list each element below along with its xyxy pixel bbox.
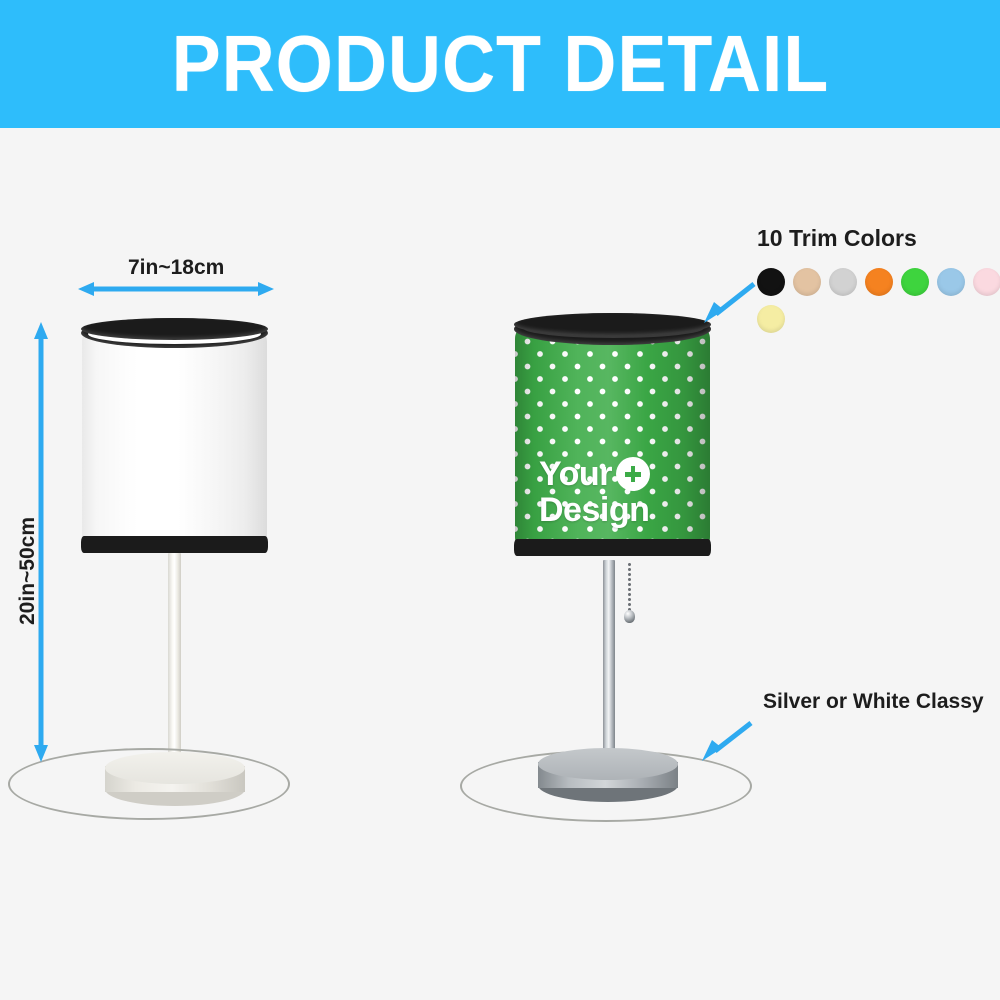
shade-width-arrow — [78, 280, 274, 298]
green-lamp-pull-chain — [628, 562, 631, 613]
header-banner: PRODUCT DETAIL — [0, 0, 1000, 128]
white-shade-bottom-trim — [81, 536, 268, 553]
trim-swatch-green[interactable] — [901, 268, 929, 296]
green-shade-top-trim-lip — [514, 313, 711, 336]
green-lamp-base — [538, 748, 678, 804]
trim-swatch-pink[interactable] — [973, 268, 1000, 296]
lamp-height-arrow — [32, 322, 50, 762]
green-shade-bottom-trim — [514, 539, 711, 556]
trim-colors-panel: 10 Trim Colors — [745, 225, 995, 345]
green-lamp-shade: Your Design — [515, 313, 710, 563]
trim-swatch-tan[interactable] — [793, 268, 821, 296]
page-title: PRODUCT DETAIL — [171, 24, 829, 104]
green-lamp-pole — [603, 560, 615, 760]
white-lamp-pole — [168, 553, 181, 768]
silver-base-top — [538, 748, 678, 780]
trim-swatch-row-1 — [757, 268, 1000, 296]
trim-colors-title: 10 Trim Colors — [757, 225, 917, 252]
trim-swatch-light-gray[interactable] — [829, 268, 857, 296]
white-shade-top-trim-lip — [81, 318, 268, 340]
green-shade-body: Your Design — [515, 329, 710, 547]
plus-circle-icon — [616, 457, 650, 491]
trim-swatch-orange[interactable] — [865, 268, 893, 296]
design-line-1: Your — [539, 455, 612, 493]
white-lamp-shade — [82, 318, 267, 558]
design-line-2: Design — [539, 491, 649, 529]
white-base-top — [105, 752, 245, 784]
shade-width-label: 7in~18cm — [128, 256, 224, 280]
trim-swatch-light-blue[interactable] — [937, 268, 965, 296]
base-finish-arrow — [697, 717, 759, 763]
white-shade-body — [82, 332, 267, 544]
base-finish-label: Silver or White Classy — [763, 690, 984, 714]
white-lamp — [0, 128, 340, 828]
trim-colors-arrow — [700, 278, 762, 324]
your-design-text: Your Design — [539, 457, 650, 528]
green-lamp-chain-ball — [624, 610, 635, 623]
white-lamp-base — [105, 752, 245, 808]
product-detail-page: PRODUCT DETAIL 7in~18cm 20in — [0, 0, 1000, 1000]
